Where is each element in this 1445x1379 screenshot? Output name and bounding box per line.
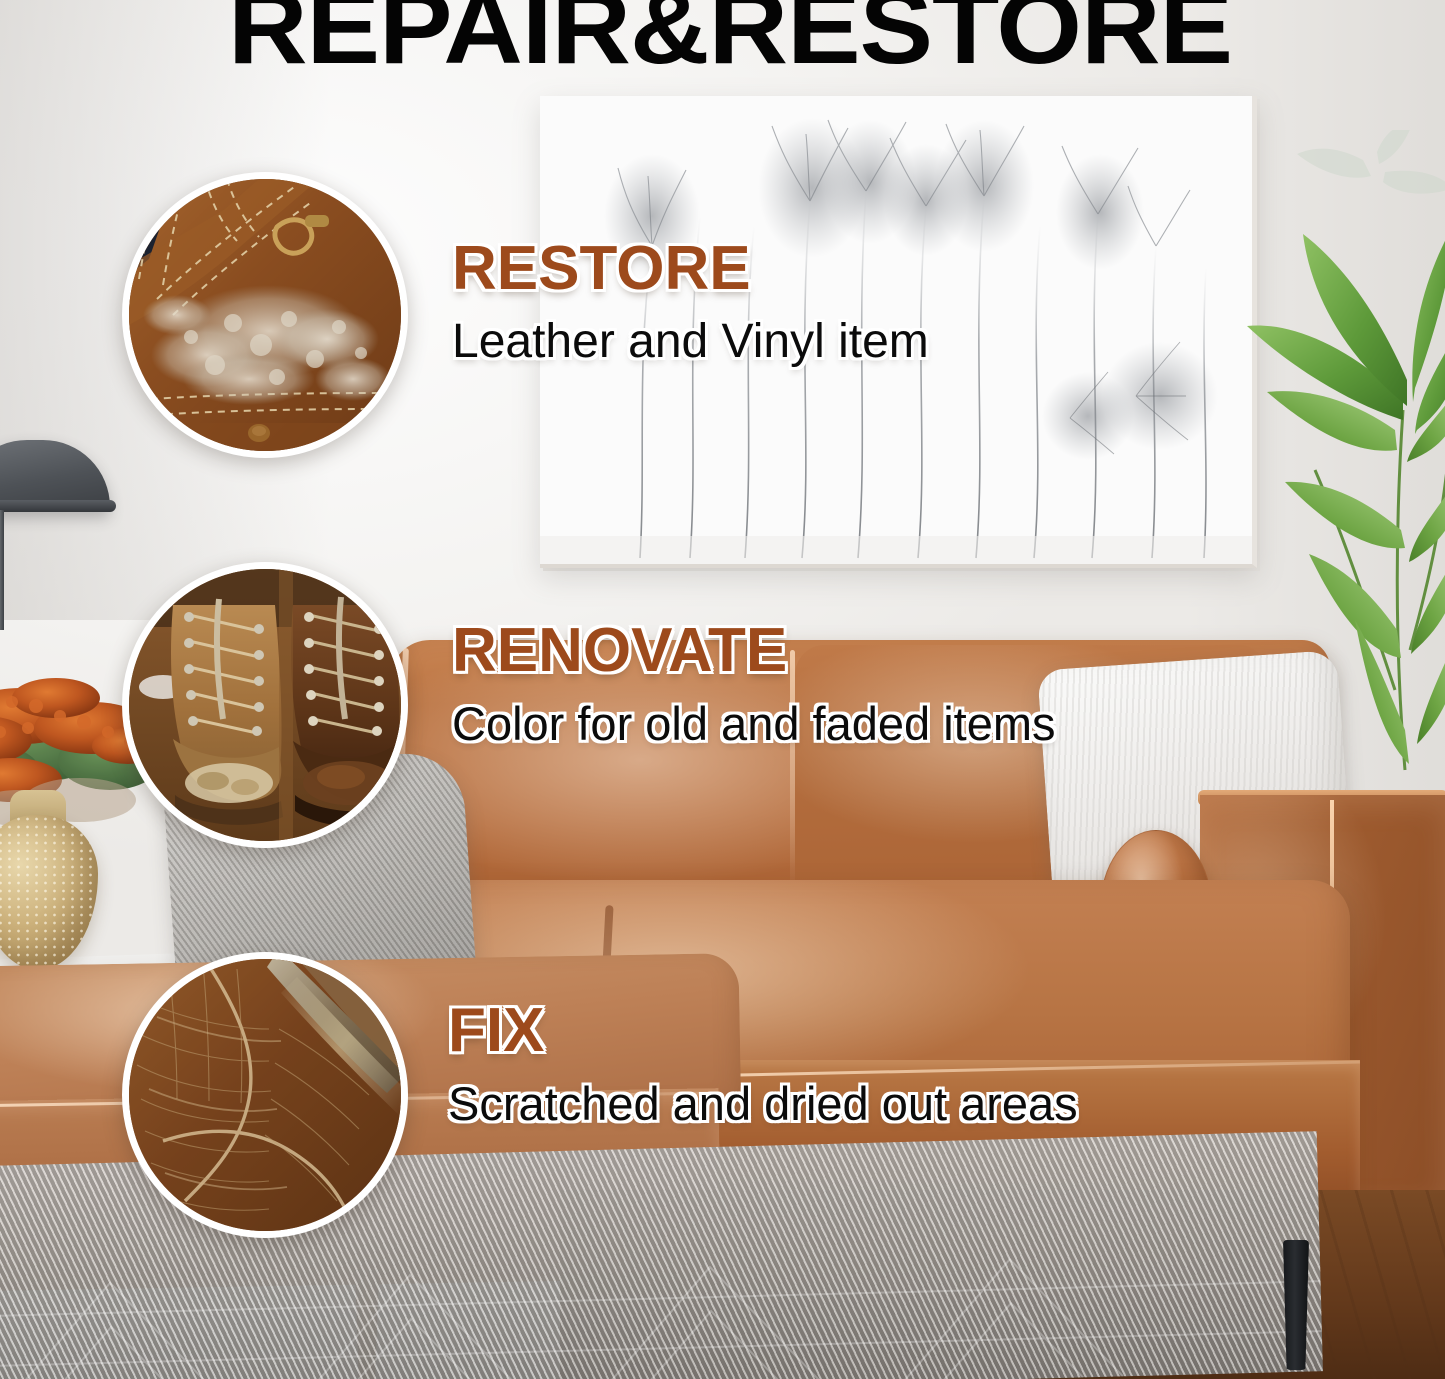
feature-photo-restore [122, 172, 408, 458]
feature-photo-fix [122, 952, 408, 1238]
feature-restore: RESTORE Leather and Vinyl item [452, 238, 929, 366]
page-title: REPAIR&RESTORE [228, 0, 1232, 80]
worn-vs-restored-boots-photo [129, 569, 401, 841]
table-lamp-stem [0, 510, 4, 630]
table-lamp-rim [0, 500, 116, 512]
feature-heading-restore: RESTORE [452, 238, 929, 300]
moldy-leather-bag-photo [129, 179, 401, 451]
feature-subtitle-restore: Leather and Vinyl item [452, 318, 929, 366]
product-feature-banner: REPAIR&RESTORE RESTORE Leather and Vinyl… [0, 0, 1445, 1379]
feature-subtitle-renovate: Color for old and faded items [452, 700, 1056, 747]
feature-renovate: RENOVATE Color for old and faded items [452, 620, 1056, 747]
sofa-leg [1283, 1240, 1309, 1370]
feature-heading-fix: FIX [448, 1000, 1078, 1062]
scratched-leather-photo [129, 959, 401, 1231]
feature-fix: FIX Scratched and dried out areas [448, 1000, 1078, 1127]
feature-photo-renovate [122, 562, 408, 848]
feature-heading-renovate: RENOVATE [452, 620, 1056, 682]
feature-subtitle-fix: Scratched and dried out areas [448, 1080, 1078, 1127]
